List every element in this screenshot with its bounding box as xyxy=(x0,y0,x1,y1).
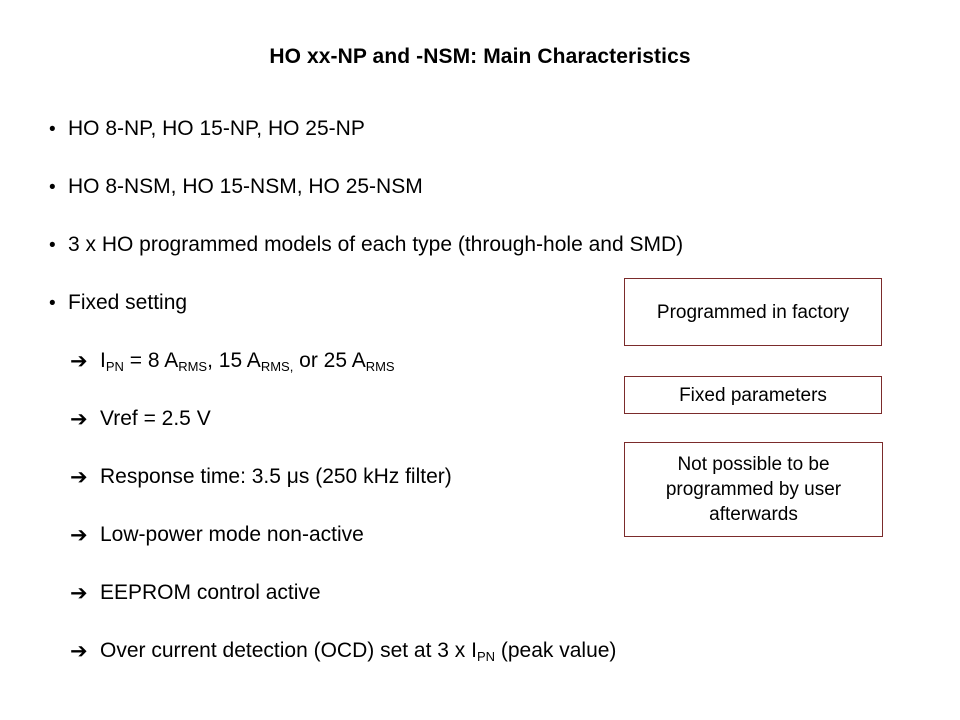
bullet-dot-icon: • xyxy=(46,178,68,197)
arrow-right-icon: ➔ xyxy=(70,641,100,662)
list-item-label: Response time: 3.5 μs (250 kHz filter) xyxy=(100,464,452,490)
list-item-label: HO 8-NSM, HO 15-NSM, HO 25-NSM xyxy=(68,174,423,200)
arrow-right-icon: ➔ xyxy=(70,409,100,430)
list-item: ➔ EEPROM control active xyxy=(46,564,926,622)
list-item-label: 3 x HO programmed models of each type (t… xyxy=(68,232,683,258)
list-item-label: Vref = 2.5 V xyxy=(100,406,211,432)
slide-canvas: HO xx-NP and -NSM: Main Characteristics … xyxy=(0,0,960,720)
list-item: • HO 8-NSM, HO 15-NSM, HO 25-NSM xyxy=(46,158,926,216)
bullet-dot-icon: • xyxy=(46,294,68,313)
arrow-right-icon: ➔ xyxy=(70,525,100,546)
list-item: ➔ Over current detection (OCD) set at 3 … xyxy=(46,622,926,680)
arrow-right-icon: ➔ xyxy=(70,583,100,604)
page-title: HO xx-NP and -NSM: Main Characteristics xyxy=(0,44,960,70)
bullet-dot-icon: • xyxy=(46,236,68,255)
callout-not-possible-to-be-programmed: Not possible to be programmed by user af… xyxy=(624,442,883,537)
list-item-label: Over current detection (OCD) set at 3 x … xyxy=(100,638,616,664)
arrow-right-icon: ➔ xyxy=(70,467,100,488)
list-item: • HO 8-NP, HO 15-NP, HO 25-NP xyxy=(46,100,926,158)
list-item-label: EEPROM control active xyxy=(100,580,321,606)
arrow-right-icon: ➔ xyxy=(70,351,100,372)
list-item-label: Low-power mode non-active xyxy=(100,522,364,548)
list-item-label: HO 8-NP, HO 15-NP, HO 25-NP xyxy=(68,116,365,142)
list-item-label: Fixed setting xyxy=(68,290,187,316)
callout-fixed-parameters: Fixed parameters xyxy=(624,376,882,414)
callout-programmed-in-factory: Programmed in factory xyxy=(624,278,882,346)
bullet-dot-icon: • xyxy=(46,120,68,139)
list-item-label: IPN = 8 ARMS, 15 ARMS, or 25 ARMS xyxy=(100,348,395,374)
list-item: • 3 x HO programmed models of each type … xyxy=(46,216,926,274)
